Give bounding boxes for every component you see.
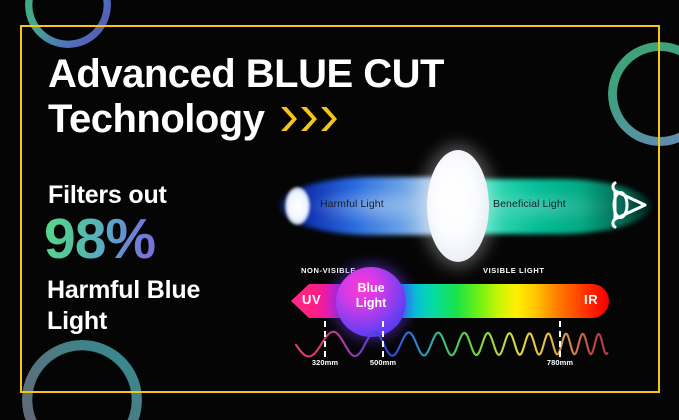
- stat-suffix-label: Harmful Blue Light: [47, 275, 262, 338]
- headline-line-2-row: Technology: [48, 97, 568, 142]
- poster-canvas: Advanced BLUE CUT Technology Filters out…: [0, 0, 679, 420]
- blue-light-line-2: Light: [336, 296, 406, 311]
- chevron-right-icon: [298, 104, 317, 134]
- harmful-light-label: Harmful Light: [320, 198, 384, 210]
- tick-marker-320: [324, 321, 326, 357]
- lens-diagram: Harmful Light Beneficial Light: [275, 150, 655, 262]
- headline-line-1: Advanced BLUE CUT: [48, 52, 568, 97]
- tick-marker-780: [559, 321, 561, 357]
- lens-ellipse: [427, 150, 489, 262]
- non-visible-label: NON-VISIBLE: [301, 266, 356, 275]
- tick-label-500: 500mm: [370, 358, 396, 367]
- visible-light-label: VISIBLE LIGHT: [483, 266, 545, 275]
- page-title: Advanced BLUE CUT Technology: [48, 52, 568, 142]
- tick-label-320: 320mm: [312, 358, 338, 367]
- light-source-glow: [285, 187, 310, 225]
- chevron-right-icon: [318, 104, 337, 134]
- uv-label: UV: [302, 292, 321, 307]
- blue-light-line-1: Blue: [336, 281, 406, 296]
- chevron-group: [278, 104, 337, 134]
- tick-label-780: 780mm: [547, 358, 573, 367]
- beneficial-light-label: Beneficial Light: [493, 198, 566, 210]
- ir-label: IR: [584, 292, 598, 307]
- blue-light-label: Blue Light: [336, 281, 406, 311]
- tick-marker-500: [382, 321, 384, 357]
- stat-value: 98%: [44, 206, 155, 272]
- eye-icon: [603, 176, 651, 234]
- headline-line-2: Technology: [48, 97, 264, 142]
- light-spectrum-chart: NON-VISIBLE VISIBLE LIGHT UV IR Blue Lig…: [288, 265, 613, 385]
- chevron-right-icon: [278, 104, 297, 134]
